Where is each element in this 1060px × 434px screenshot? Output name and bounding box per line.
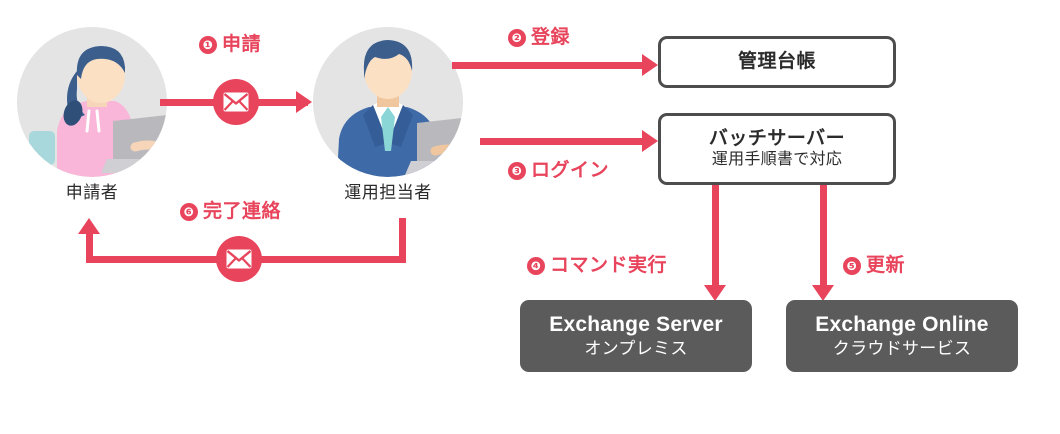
person-man-suit-laptop-icon	[313, 27, 463, 177]
node-exchange-online-subtitle: クラウドサービス	[833, 338, 971, 360]
avatar-operator	[313, 27, 463, 177]
step-label-4: ❹ コマンド実行	[527, 256, 667, 275]
avatar-applicant	[17, 27, 167, 177]
step-text-2: 登録	[531, 28, 570, 47]
step-text-5: 更新	[866, 256, 905, 275]
step-number-4: ❹	[527, 257, 545, 275]
arrow-line-step2	[452, 62, 644, 69]
mail-badge-step6	[216, 236, 262, 282]
node-exchange-server-subtitle: オンプレミス	[584, 338, 687, 360]
envelope-icon	[226, 249, 252, 269]
node-batch-server-subtitle: 運用手順書で対応	[712, 150, 842, 171]
arrow-line-step6-riser	[86, 232, 93, 260]
step-text-1: 申請	[222, 35, 261, 54]
avatar-circle-applicant	[17, 27, 167, 177]
node-batch-server-title: バッチサーバー	[709, 127, 845, 151]
person-woman-laptop-icon	[17, 27, 167, 177]
actor-label-operator: 運用担当者	[303, 178, 473, 203]
step-text-4: コマンド実行	[550, 256, 667, 275]
arrow-head-step6	[78, 218, 100, 234]
step-label-2: ❷ 登録	[508, 28, 570, 47]
arrow-head-step2	[642, 54, 658, 76]
diagram-canvas: 申請者	[0, 0, 1060, 434]
node-exchange-server-title: Exchange Server	[549, 312, 722, 337]
envelope-icon	[223, 92, 249, 112]
arrow-line-step3	[480, 138, 644, 145]
arrow-line-step4	[712, 185, 719, 289]
node-exchange-online-title: Exchange Online	[815, 312, 988, 337]
step-number-2: ❷	[508, 29, 526, 47]
arrow-line-step5	[820, 185, 827, 289]
node-ledger[interactable]: 管理台帳	[658, 36, 896, 88]
step-label-5: ❺ 更新	[843, 256, 905, 275]
step-number-1: ❶	[199, 36, 217, 54]
step-text-6: 完了連絡	[203, 202, 281, 221]
node-batch-server[interactable]: バッチサーバー 運用手順書で対応	[658, 113, 896, 185]
node-exchange-online[interactable]: Exchange Online クラウドサービス	[786, 300, 1018, 372]
step-label-1: ❶ 申請	[199, 35, 261, 54]
arrow-head-step4	[704, 285, 726, 301]
avatar-circle-operator	[313, 27, 463, 177]
step-number-6: ❻	[180, 203, 198, 221]
step-number-5: ❺	[843, 257, 861, 275]
step-label-3: ❸ ログイン	[508, 161, 609, 180]
arrow-head-step5	[812, 285, 834, 301]
node-exchange-server[interactable]: Exchange Server オンプレミス	[520, 300, 752, 372]
arrow-head-step1	[296, 91, 312, 113]
mail-badge-step1	[213, 79, 259, 125]
arrow-head-step3	[642, 130, 658, 152]
step-text-3: ログイン	[531, 161, 609, 180]
step-label-6: ❻ 完了連絡	[180, 202, 281, 221]
node-ledger-title: 管理台帳	[738, 50, 816, 74]
step-number-3: ❸	[508, 162, 526, 180]
actor-label-applicant: 申請者	[7, 178, 177, 203]
